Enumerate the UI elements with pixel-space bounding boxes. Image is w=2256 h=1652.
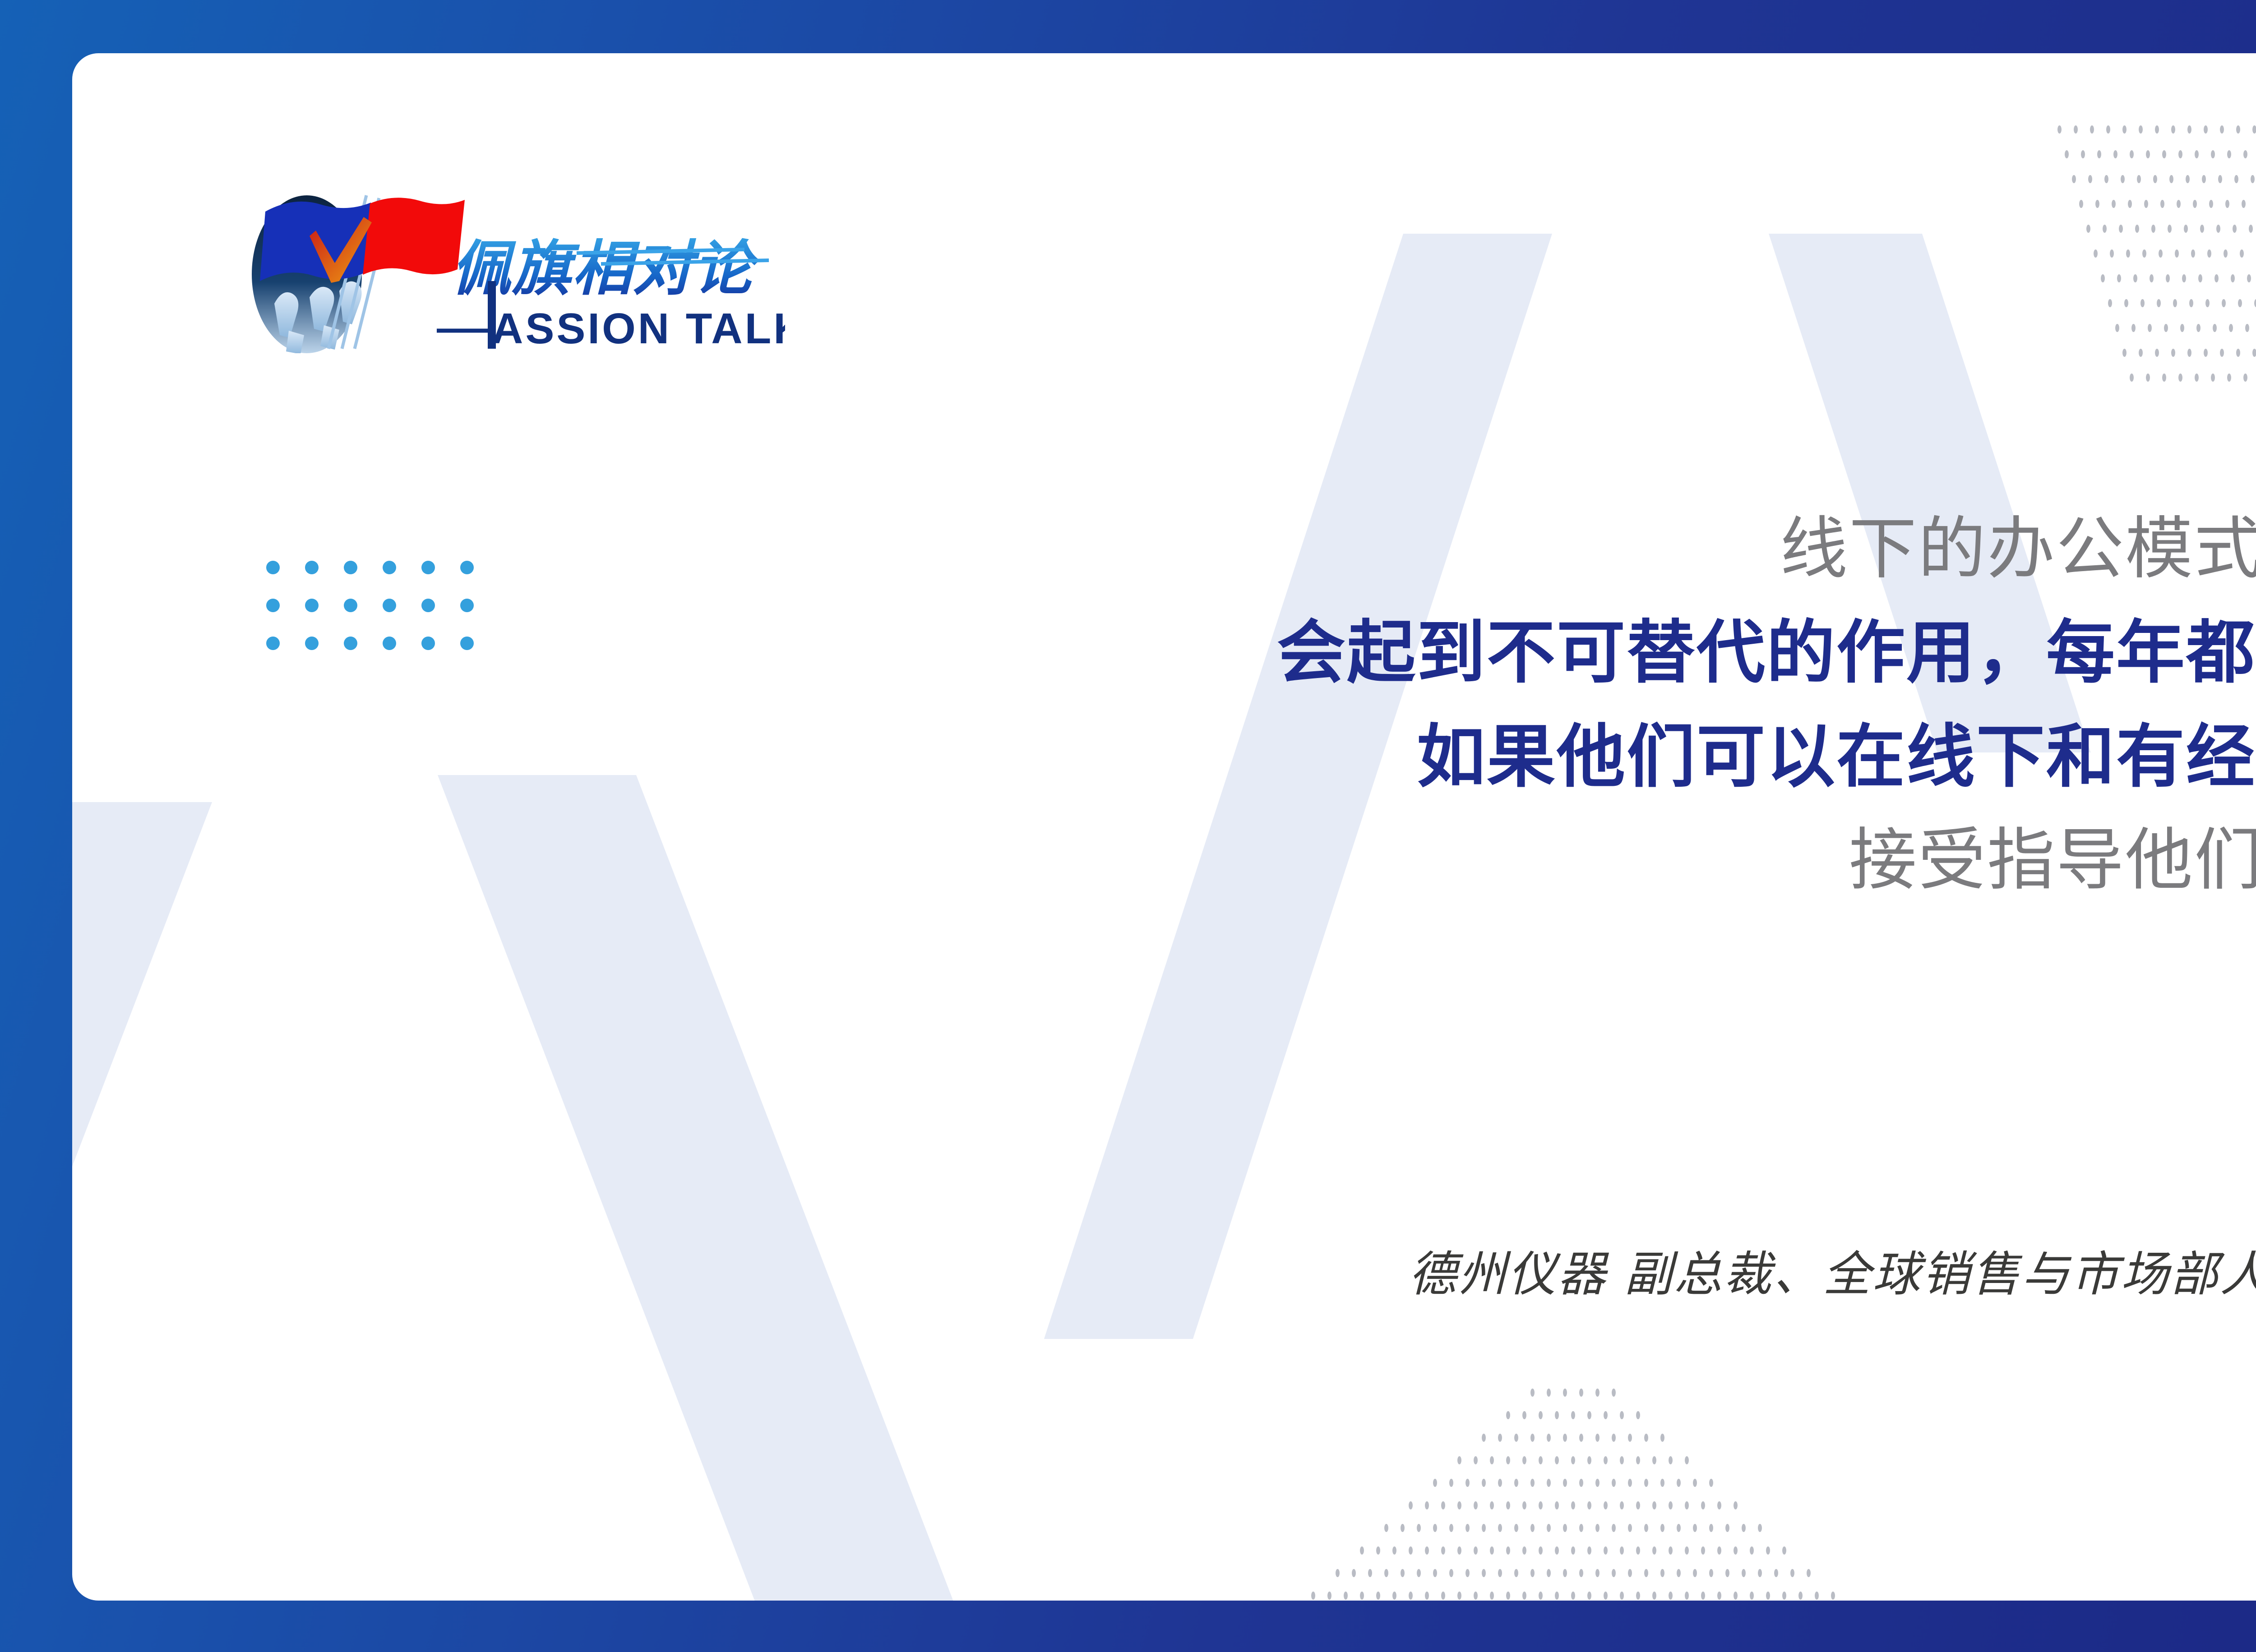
dot (2240, 249, 2244, 258)
dot (383, 599, 396, 612)
dot (460, 561, 474, 574)
dot (2162, 374, 2166, 382)
dot (1409, 1501, 1413, 1509)
dot (1514, 1569, 1518, 1577)
dot (1620, 1592, 1624, 1600)
dot (2153, 175, 2157, 183)
dot (2202, 175, 2206, 183)
dot (2162, 150, 2166, 158)
dot (1709, 1524, 1713, 1532)
dot (2142, 249, 2146, 258)
dot (1409, 1546, 1413, 1555)
dot (2122, 349, 2127, 357)
dot (460, 637, 474, 650)
dot (2252, 125, 2256, 134)
dot (2187, 125, 2191, 134)
dot (1798, 1592, 1803, 1600)
dot (2150, 274, 2154, 282)
dot (1595, 1524, 1600, 1532)
quote-line-1: 线下的办公模式同样在人才培养上 (695, 498, 2256, 600)
dot (2204, 349, 2208, 357)
dot (2135, 225, 2139, 233)
dot (1660, 1479, 1664, 1487)
dot (2164, 324, 2168, 332)
dot (2110, 249, 2114, 258)
dot (1539, 1501, 1543, 1509)
dot (1547, 1524, 1551, 1532)
dot (1539, 1592, 1543, 1600)
dot (2117, 274, 2121, 282)
dot (1644, 1479, 1648, 1487)
dot (1579, 1524, 1583, 1532)
dot (2166, 274, 2170, 282)
dot (1734, 1501, 1738, 1509)
dot (1474, 1456, 1478, 1464)
dot (2155, 349, 2159, 357)
dot (1522, 1501, 1526, 1509)
dot (2236, 125, 2240, 134)
dot (1620, 1546, 1624, 1555)
dot (1555, 1411, 1559, 1419)
dot (2137, 175, 2141, 183)
dot (1595, 1479, 1600, 1487)
dot (1628, 1434, 1632, 1442)
dot (1669, 1456, 1673, 1464)
dot (1539, 1546, 1543, 1555)
dot (1352, 1569, 1356, 1577)
dot (1717, 1501, 1721, 1509)
dot (1571, 1546, 1575, 1555)
dot (1652, 1546, 1656, 1555)
dot (2159, 249, 2163, 258)
dot (2168, 225, 2172, 233)
dot (2238, 299, 2242, 307)
dot (383, 637, 396, 650)
dot (1604, 1546, 1608, 1555)
dot (1636, 1456, 1640, 1464)
dot (1474, 1501, 1478, 1509)
dot (1425, 1592, 1429, 1600)
dot (1750, 1592, 1754, 1600)
dot (421, 561, 435, 574)
dot (1490, 1501, 1494, 1509)
dot (2072, 175, 2076, 183)
dot (421, 599, 435, 612)
dot (2249, 225, 2253, 233)
dot (2233, 225, 2237, 233)
dot (1612, 1524, 1616, 1532)
dot (1685, 1546, 1689, 1555)
dot (2224, 249, 2228, 258)
dot (1782, 1592, 1786, 1600)
quote-card: 佩旗相对论 ASSION TALK 线下的办公模式同样在人才培养上 会起到不可替… (72, 53, 2256, 1601)
dot (1392, 1546, 1396, 1555)
dot (383, 561, 396, 574)
dot (1449, 1569, 1453, 1577)
dot (2169, 175, 2173, 183)
dot (1652, 1456, 1656, 1464)
dot (1701, 1546, 1705, 1555)
dot (1368, 1569, 1372, 1577)
dot (1579, 1434, 1583, 1442)
dot (1465, 1524, 1470, 1532)
dot (1563, 1434, 1567, 1442)
dot (1571, 1456, 1575, 1464)
dot (1644, 1569, 1648, 1577)
dot (1392, 1592, 1396, 1600)
dot (344, 561, 357, 574)
dot (1644, 1524, 1648, 1532)
dot (2139, 125, 2143, 134)
dot (1522, 1546, 1526, 1555)
dot (305, 561, 319, 574)
dot (1384, 1569, 1388, 1577)
dot (1604, 1411, 1608, 1419)
dot (2106, 125, 2110, 134)
dot (2251, 175, 2255, 183)
dot (1612, 1479, 1616, 1487)
dot (2171, 125, 2175, 134)
dot (1547, 1479, 1551, 1487)
dot (2131, 324, 2136, 332)
dot (305, 599, 319, 612)
dot (2189, 299, 2193, 307)
v-watermark-left-stroke (72, 802, 212, 1601)
dot (1579, 1389, 1583, 1397)
dot (1693, 1569, 1697, 1577)
dot (2204, 125, 2208, 134)
dot (1620, 1411, 1624, 1419)
dot (1547, 1389, 1551, 1397)
dot (2225, 200, 2229, 208)
dot (1758, 1524, 1762, 1532)
dot (2200, 225, 2204, 233)
dot (1539, 1411, 1543, 1419)
dot (266, 561, 280, 574)
dot (1498, 1479, 1502, 1487)
dot (1336, 1569, 1340, 1577)
dot (2193, 200, 2197, 208)
dot (1636, 1546, 1640, 1555)
dot (1449, 1479, 1453, 1487)
dot (2130, 374, 2134, 382)
dot (1636, 1592, 1640, 1600)
dot (1685, 1501, 1689, 1509)
dot (1360, 1592, 1364, 1600)
dot (1433, 1479, 1437, 1487)
dot (1725, 1524, 1729, 1532)
dot (1401, 1569, 1405, 1577)
dot (1433, 1524, 1437, 1532)
dot (2243, 150, 2247, 158)
dot (2112, 200, 2116, 208)
dot (2108, 299, 2112, 307)
quote-line-4: 接受指导他们也能更早进入角色 (695, 809, 2256, 912)
dot (1677, 1479, 1681, 1487)
dot (1547, 1434, 1551, 1442)
dot (1612, 1569, 1616, 1577)
dot (2218, 175, 2222, 183)
dot (460, 599, 474, 612)
dot (2128, 200, 2132, 208)
dot (2133, 274, 2137, 282)
dot (1360, 1546, 1364, 1555)
dot (2124, 299, 2128, 307)
dot (1539, 1456, 1543, 1464)
dot (2187, 349, 2191, 357)
dot (2211, 150, 2215, 158)
dot (2171, 349, 2175, 357)
dot (2113, 150, 2117, 158)
dot (1604, 1456, 1608, 1464)
dot (1636, 1411, 1640, 1419)
dot (1628, 1479, 1632, 1487)
dot (1766, 1546, 1770, 1555)
dot (2175, 249, 2179, 258)
logo-red-flag-icon (363, 198, 465, 275)
dot (1457, 1501, 1461, 1509)
dot (1571, 1592, 1575, 1600)
dot (1433, 1569, 1437, 1577)
dot (1669, 1592, 1673, 1600)
dot (2081, 150, 2085, 158)
dot (2227, 374, 2231, 382)
dot (1449, 1524, 1453, 1532)
dot (2173, 299, 2177, 307)
dot (1628, 1524, 1632, 1532)
dot (1612, 1389, 1616, 1397)
dot (1701, 1592, 1705, 1600)
dot (1620, 1456, 1624, 1464)
dot (1587, 1501, 1591, 1509)
dot (1555, 1501, 1559, 1509)
dot (2157, 299, 2161, 307)
dot (1604, 1592, 1608, 1600)
dot (2214, 274, 2219, 282)
dot (1465, 1479, 1470, 1487)
dot (1636, 1501, 1640, 1509)
dot (1547, 1569, 1551, 1577)
dot (1563, 1479, 1567, 1487)
dot (2057, 125, 2062, 134)
dot (2209, 200, 2213, 208)
dot (1490, 1456, 1494, 1464)
blue-dot-grid-decoration (266, 561, 478, 674)
dot (1417, 1524, 1421, 1532)
dot (1595, 1569, 1600, 1577)
dot (1669, 1501, 1673, 1509)
dot (1482, 1524, 1486, 1532)
dot (1693, 1479, 1697, 1487)
dot (2229, 324, 2233, 332)
dot (1742, 1569, 1746, 1577)
logo-artwork: 佩旗相对论 ASSION TALK (221, 168, 785, 353)
dot (1506, 1501, 1510, 1509)
dot (1693, 1524, 1697, 1532)
dot (1563, 1569, 1567, 1577)
brand-logo[interactable]: 佩旗相对论 ASSION TALK (221, 168, 785, 353)
dot (2130, 150, 2134, 158)
dot (1465, 1569, 1470, 1577)
dot (2195, 374, 2199, 382)
dot (1506, 1411, 1510, 1419)
dot (1677, 1569, 1681, 1577)
dot (2090, 125, 2094, 134)
dot (1555, 1592, 1559, 1600)
quote-text-block: 线下的办公模式同样在人才培养上 会起到不可替代的作用，每年都会有新人走入职场 如… (695, 498, 2256, 912)
dot (1498, 1524, 1502, 1532)
dot (2220, 125, 2224, 134)
dot (2146, 150, 2150, 158)
dot (1530, 1434, 1535, 1442)
dot (2151, 225, 2155, 233)
dot (2160, 200, 2164, 208)
dot (1311, 1592, 1315, 1600)
dot (1587, 1546, 1591, 1555)
dot (1506, 1456, 1510, 1464)
dot (2216, 225, 2220, 233)
dot (1652, 1501, 1656, 1509)
dot (1571, 1411, 1575, 1419)
dot (1660, 1434, 1664, 1442)
dot (344, 599, 357, 612)
dot (1327, 1592, 1331, 1600)
dot (2247, 274, 2251, 282)
dot (2236, 349, 2240, 357)
dot (2252, 349, 2256, 357)
dot (1604, 1501, 1608, 1509)
dot (1555, 1456, 1559, 1464)
dot (1595, 1434, 1600, 1442)
dot (1579, 1569, 1583, 1577)
dot (1725, 1569, 1729, 1577)
dot (1482, 1569, 1486, 1577)
dot (2088, 175, 2092, 183)
dot (1425, 1546, 1429, 1555)
dot (2234, 175, 2238, 183)
dot (2243, 374, 2247, 382)
dot (2182, 274, 2186, 282)
dot (1441, 1546, 1445, 1555)
dot (305, 637, 319, 650)
dot (2122, 125, 2127, 134)
dot (2184, 225, 2188, 233)
dot (1660, 1569, 1664, 1577)
dot-wedge-bottom-center-decoration (1245, 1389, 1913, 1601)
dot (2148, 324, 2152, 332)
dot (1514, 1434, 1518, 1442)
dot (1807, 1569, 1811, 1577)
dot (2144, 200, 2148, 208)
dot (1457, 1456, 1461, 1464)
dot (1587, 1592, 1591, 1600)
dot (2097, 150, 2101, 158)
dot (1587, 1456, 1591, 1464)
dot (2196, 324, 2201, 332)
dot (1563, 1524, 1567, 1532)
dot (1530, 1569, 1535, 1577)
dot (1490, 1546, 1494, 1555)
dot (344, 637, 357, 650)
dot (421, 637, 435, 650)
dot-wedge-top-right-decoration (2057, 125, 2256, 405)
dot (1644, 1434, 1648, 1442)
dot (1563, 1389, 1567, 1397)
dot (1441, 1501, 1445, 1509)
dot (1571, 1501, 1575, 1509)
dot (1441, 1592, 1445, 1600)
dot (2242, 200, 2246, 208)
dot (1376, 1592, 1380, 1600)
dot (1734, 1592, 1738, 1600)
dot (2101, 274, 2105, 282)
dot (1677, 1524, 1681, 1532)
dot (266, 599, 280, 612)
dot (1620, 1501, 1624, 1509)
dot (1514, 1524, 1518, 1532)
dot (1766, 1592, 1770, 1600)
dot (2121, 175, 2125, 183)
dot (1457, 1546, 1461, 1555)
dot (2074, 125, 2078, 134)
quote-line-3: 如果他们可以在线下和有经验的同事一起工作 (695, 705, 2256, 809)
dot (1530, 1389, 1535, 1397)
dot (1498, 1434, 1502, 1442)
dot (2220, 349, 2224, 357)
dot (1612, 1434, 1616, 1442)
dot (1790, 1569, 1794, 1577)
dot (2178, 374, 2182, 382)
dot (1482, 1434, 1486, 1442)
dot (1474, 1546, 1478, 1555)
dot (1425, 1501, 1429, 1509)
dot (1530, 1479, 1535, 1487)
dot (2104, 175, 2108, 183)
dot (2140, 299, 2145, 307)
dot (1506, 1592, 1510, 1600)
dot (2186, 175, 2190, 183)
dot (1506, 1546, 1510, 1555)
logo-wordmark-en: ASSION TALK (492, 305, 785, 353)
dot (1384, 1524, 1388, 1532)
dot (2211, 374, 2215, 382)
dot (1490, 1592, 1494, 1600)
dot (2103, 225, 2107, 233)
dot (1660, 1524, 1664, 1532)
dot (2213, 324, 2217, 332)
dot (1401, 1524, 1405, 1532)
dot (2254, 299, 2256, 307)
dot (2231, 274, 2235, 282)
dot (2139, 349, 2143, 357)
dot (1514, 1479, 1518, 1487)
dot (2191, 249, 2195, 258)
dot (2180, 324, 2184, 332)
dot (2119, 225, 2123, 233)
dot (2227, 150, 2231, 158)
dot (1409, 1592, 1413, 1600)
dot (1482, 1479, 1486, 1487)
dot (1774, 1569, 1778, 1577)
dot (1750, 1546, 1754, 1555)
dot (2195, 150, 2199, 158)
dot (2086, 225, 2090, 233)
dot (2094, 249, 2098, 258)
dot (2146, 374, 2150, 382)
dot (2245, 324, 2249, 332)
dot (1685, 1592, 1689, 1600)
dot (1344, 1592, 1348, 1600)
